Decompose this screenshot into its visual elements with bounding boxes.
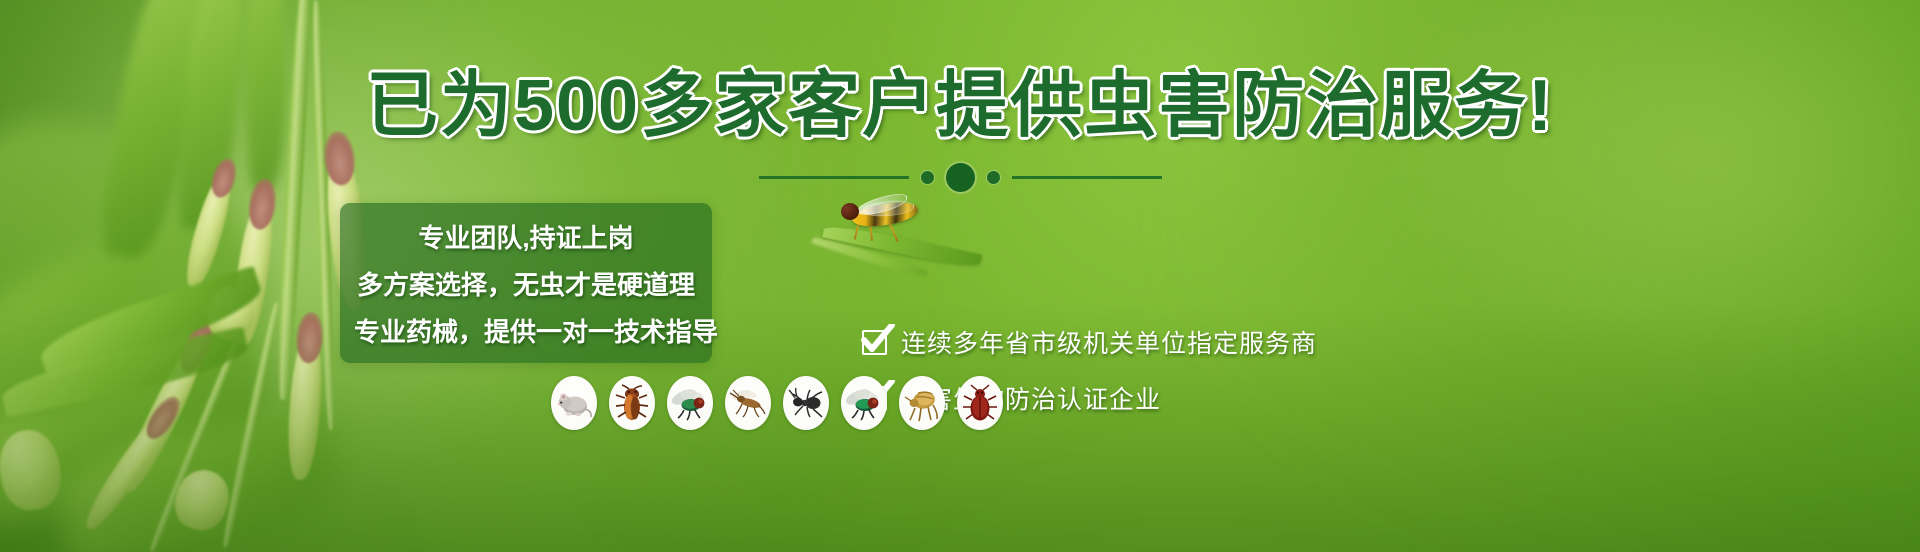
fly-head-shape (841, 203, 859, 220)
mouse-icon[interactable] (551, 376, 597, 430)
hoverfly-photo-decoration (800, 192, 990, 282)
mosquito-icon[interactable] (725, 376, 771, 430)
divider-dots (0, 163, 1920, 192)
blowfly-icon[interactable] (841, 376, 887, 430)
checkbox-checked-icon (862, 330, 887, 355)
selling-point-line-1: 专业团队,持证上岗 (354, 218, 698, 255)
divider-rule-right (1012, 176, 1162, 179)
selling-point-line-3: 专业药械，提供一对一技术指导 (354, 312, 698, 349)
divider-dot-small-left (921, 171, 934, 184)
banner-headline: 已为500多家客户提供虫害防治服务! (366, 70, 1554, 142)
flea-icon[interactable] (899, 376, 945, 430)
selling-point-line-2: 多方案选择，无虫才是硬道理 (354, 265, 698, 302)
bedbug-icon[interactable] (957, 376, 1003, 430)
bullet-item: 连续多年省市级机关单位指定服务商 (862, 324, 1582, 360)
divider-dot-large (946, 163, 975, 192)
divider-rule-left (759, 176, 909, 179)
ant-icon[interactable] (783, 376, 829, 430)
bullet-label: 连续多年省市级机关单位指定服务商 (901, 324, 1317, 360)
selling-points-panel: 专业团队,持证上岗 多方案选择，无虫才是硬道理 专业药械，提供一对一技术指导 (340, 203, 712, 363)
cockroach-icon[interactable] (609, 376, 655, 430)
pest-type-icon-row (551, 376, 1003, 430)
fly-icon[interactable] (667, 376, 713, 430)
pest-control-hero-banner: 已为500多家客户提供虫害防治服务! 专业团队,持证上岗 多方案选择，无虫才是硬… (0, 0, 1920, 552)
headline-container: 已为500多家客户提供虫害防治服务! (0, 70, 1920, 142)
divider-dot-small-right (987, 171, 1000, 184)
